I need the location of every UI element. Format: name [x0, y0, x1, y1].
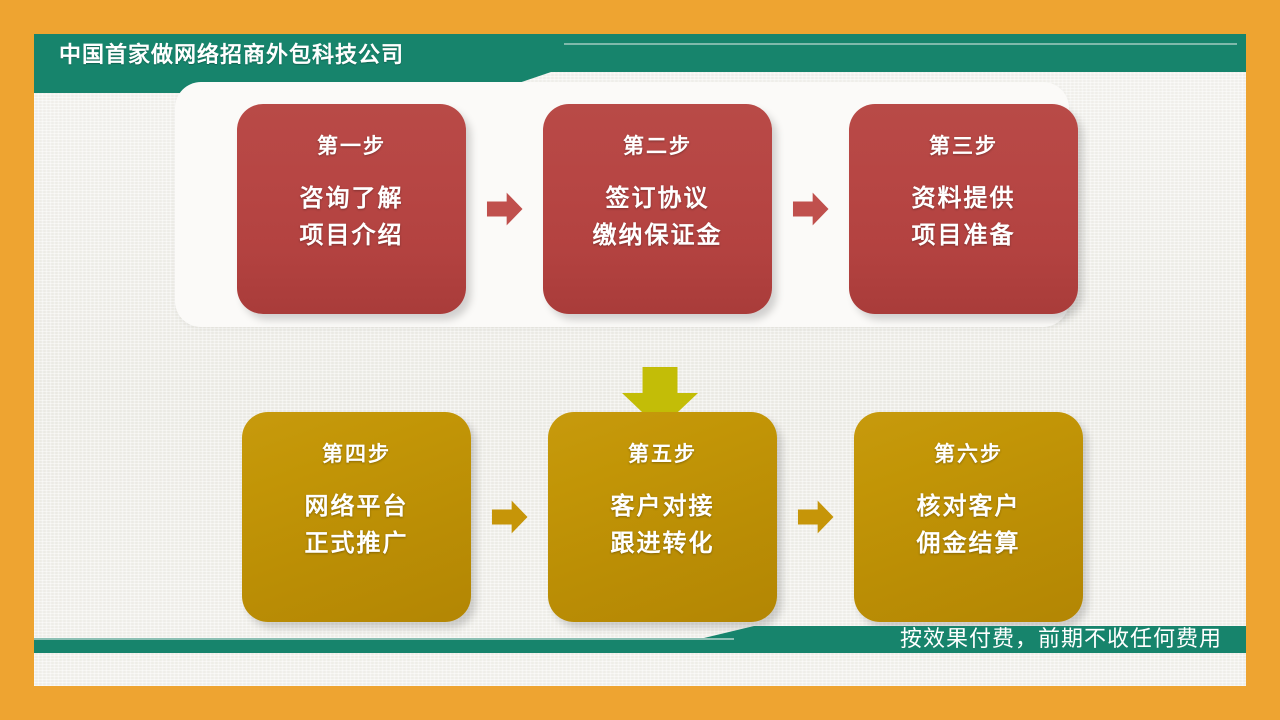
- step-card-4-line2: 正式推广: [305, 531, 409, 556]
- step-card-5-body: 客户对接 跟进转化: [611, 494, 715, 556]
- slide-canvas: 中国首家做网络招商外包科技公司 第一步 咨询了解 项目介绍 第二步 签订协议 缴…: [0, 0, 1280, 720]
- footer-rule-line: [34, 638, 734, 640]
- arrow-right-icon: [487, 192, 523, 226]
- step-card-1-title: 第一步: [317, 130, 386, 160]
- step-card-5-title: 第五步: [628, 438, 697, 468]
- step-card-6-body: 核对客户 佣金结算: [917, 494, 1021, 556]
- arrow-right-icon: [492, 500, 528, 534]
- step-card-1-line2: 项目介绍: [300, 223, 404, 248]
- connector-5-6: [777, 412, 854, 622]
- slide-content-area: 中国首家做网络招商外包科技公司 第一步 咨询了解 项目介绍 第二步 签订协议 缴…: [34, 34, 1246, 686]
- connector-2-3: [772, 104, 849, 314]
- step-card-6[interactable]: 第六步 核对客户 佣金结算: [854, 412, 1083, 622]
- step-card-3-body: 资料提供 项目准备: [912, 186, 1016, 248]
- step-card-6-title: 第六步: [934, 438, 1003, 468]
- step-card-2[interactable]: 第二步 签订协议 缴纳保证金: [543, 104, 772, 314]
- step-card-2-line2: 缴纳保证金: [593, 223, 723, 248]
- step-card-3-title: 第三步: [929, 130, 998, 160]
- step-card-1-line1: 咨询了解: [300, 186, 404, 211]
- step-card-2-title: 第二步: [623, 130, 692, 160]
- arrow-right-icon: [793, 192, 829, 226]
- step-card-4[interactable]: 第四步 网络平台 正式推广: [242, 412, 471, 622]
- step-card-4-body: 网络平台 正式推广: [305, 494, 409, 556]
- step-card-1[interactable]: 第一步 咨询了解 项目介绍: [237, 104, 466, 314]
- step-card-3-line1: 资料提供: [912, 186, 1016, 211]
- step-card-2-body: 签订协议 缴纳保证金: [593, 186, 723, 248]
- step-card-1-body: 咨询了解 项目介绍: [300, 186, 404, 248]
- flow-row-top: 第一步 咨询了解 项目介绍 第二步 签订协议 缴纳保证金 第: [237, 104, 1078, 314]
- connector-1-2: [466, 104, 543, 314]
- step-card-2-line1: 签订协议: [606, 186, 710, 211]
- step-card-3[interactable]: 第三步 资料提供 项目准备: [849, 104, 1078, 314]
- step-card-4-title: 第四步: [322, 438, 391, 468]
- arrow-right-icon: [798, 500, 834, 534]
- step-card-5-line1: 客户对接: [611, 494, 715, 519]
- step-card-5-line2: 跟进转化: [611, 531, 715, 556]
- step-card-5[interactable]: 第五步 客户对接 跟进转化: [548, 412, 777, 622]
- step-card-6-line2: 佣金结算: [917, 531, 1021, 556]
- step-card-3-line2: 项目准备: [912, 223, 1016, 248]
- connector-4-5: [471, 412, 548, 622]
- step-card-4-line1: 网络平台: [305, 494, 409, 519]
- footer-tagline: 按效果付费，前期不收任何费用: [900, 626, 1222, 652]
- page-title: 中国首家做网络招商外包科技公司: [59, 38, 404, 72]
- flow-row-bottom: 第四步 网络平台 正式推广 第五步 客户对接 跟进转化 第六: [242, 412, 1083, 622]
- step-card-6-line1: 核对客户: [917, 494, 1021, 519]
